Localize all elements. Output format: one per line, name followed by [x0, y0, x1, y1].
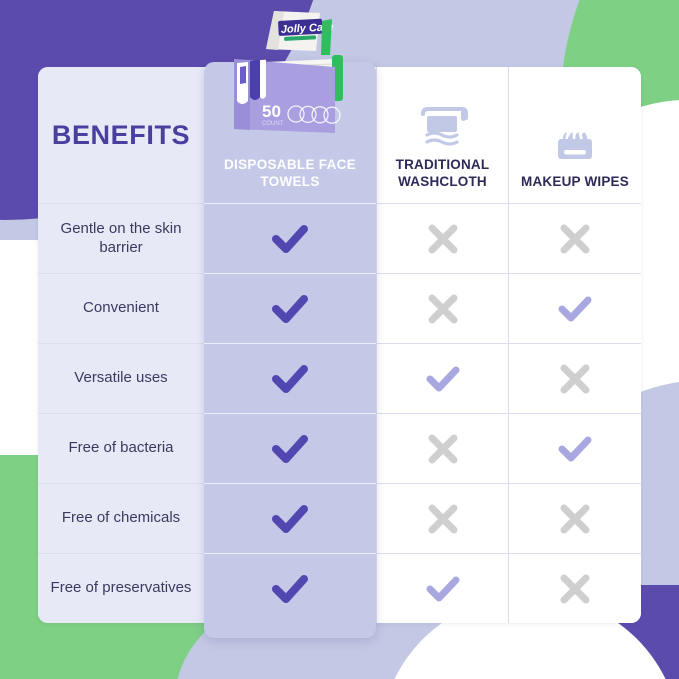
benefit-label-cell: Convenient [38, 273, 204, 343]
mark-cell-washcloth [376, 273, 508, 343]
mark-cell-wipes [508, 553, 641, 623]
benefit-label: Free of bacteria [58, 439, 183, 457]
benefit-label: Gentle on the skin barrier [38, 220, 204, 257]
mark-cell-product [204, 413, 376, 483]
header-cell-wipes: MAKEUP WIPES [508, 67, 641, 203]
check-icon [421, 359, 465, 399]
cross-icon [423, 499, 463, 539]
mark-cell-wipes [508, 483, 641, 553]
header-label-washcloth: TRADITIONAL WASHCLOTH [377, 157, 508, 191]
cross-icon [555, 219, 595, 259]
check-icon [553, 429, 597, 469]
mark-cell-washcloth [376, 343, 508, 413]
page-title: BENEFITS [52, 120, 190, 151]
benefit-label: Versatile uses [64, 369, 177, 387]
header-cell-washcloth: TRADITIONAL WASHCLOTH [376, 67, 508, 203]
cross-icon [555, 499, 595, 539]
check-icon [266, 568, 314, 610]
mark-cell-washcloth [376, 203, 508, 273]
product-column-header: DISPOSABLE FACE TOWELS [204, 62, 376, 203]
benefit-label-cell: Gentle on the skin barrier [38, 203, 204, 273]
check-icon [266, 218, 314, 260]
mark-cell-product [204, 483, 376, 553]
check-icon [266, 428, 314, 470]
mark-cell-product [204, 343, 376, 413]
mark-cell-wipes [508, 203, 641, 273]
benefit-label-cell: Versatile uses [38, 343, 204, 413]
mark-cell-washcloth [376, 553, 508, 623]
mark-cell-washcloth [376, 483, 508, 553]
check-icon [266, 498, 314, 540]
check-icon [421, 569, 465, 609]
mark-cell-wipes [508, 273, 641, 343]
mark-cell-product [204, 553, 376, 623]
cross-icon [555, 569, 595, 609]
towel-rack-icon [415, 104, 471, 148]
mark-cell-wipes [508, 413, 641, 483]
header-cell-benefits: BENEFITS [38, 67, 204, 203]
mark-cell-product [204, 273, 376, 343]
benefit-label-cell: Free of bacteria [38, 413, 204, 483]
benefit-label: Convenient [73, 299, 169, 317]
cross-icon [423, 289, 463, 329]
check-icon [553, 289, 597, 329]
comparison-infographic: BENEFITS [0, 0, 679, 679]
benefit-label-cell: Free of chemicals [38, 483, 204, 553]
benefit-label: Free of preservatives [41, 579, 202, 597]
wipes-box-icon [549, 121, 601, 165]
mark-cell-product [204, 203, 376, 273]
benefit-label: Free of chemicals [52, 509, 190, 527]
cross-icon [423, 219, 463, 259]
header-label-product: DISPOSABLE FACE TOWELS [204, 157, 376, 191]
cross-icon [555, 359, 595, 399]
check-icon [266, 288, 314, 330]
header-label-wipes: MAKEUP WIPES [521, 174, 629, 191]
mark-cell-washcloth [376, 413, 508, 483]
highlighted-product-column: DISPOSABLE FACE TOWELS [204, 62, 376, 638]
cross-icon [423, 429, 463, 469]
check-icon [266, 358, 314, 400]
benefit-label-cell: Free of preservatives [38, 553, 204, 623]
mark-cell-wipes [508, 343, 641, 413]
